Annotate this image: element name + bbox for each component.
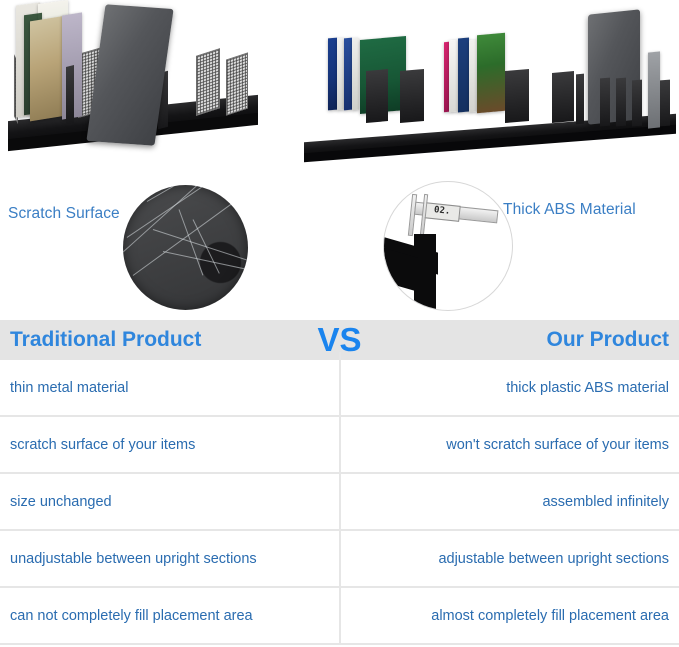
tablet xyxy=(648,51,660,128)
mesh-divider xyxy=(226,52,248,115)
abs-separator xyxy=(600,78,610,127)
scratched-surface-closeup-icon xyxy=(123,185,248,310)
book-cover xyxy=(477,33,505,113)
traditional-product-header: Traditional Product xyxy=(0,328,340,352)
vs-stem xyxy=(339,352,341,360)
thick-abs-material-label: Thick ABS Material xyxy=(503,201,636,219)
abs-separator xyxy=(660,80,670,127)
abs-separator xyxy=(632,80,642,127)
our-cell: adjustable between upright sections xyxy=(340,531,679,586)
traditional-product-photo xyxy=(0,0,290,172)
our-cell: thick plastic ABS material xyxy=(340,360,679,415)
abs-separator xyxy=(576,74,584,125)
traditional-cell: size unchanged xyxy=(0,474,340,529)
abs-separator xyxy=(400,69,424,123)
abs-separator xyxy=(616,78,626,127)
column-divider xyxy=(339,360,341,645)
caliper-jaw xyxy=(408,194,417,236)
traditional-cell: thin metal material xyxy=(0,360,340,415)
our-cell: won't scratch surface of your items xyxy=(340,417,679,472)
abs-separator xyxy=(505,69,529,123)
divider-panel xyxy=(66,65,74,125)
feature-callouts: Scratch Surface 02. Thick ABS Material xyxy=(0,175,679,320)
abs-separator xyxy=(552,71,574,123)
our-cell: almost completely fill placement area xyxy=(340,588,679,643)
abs-separator xyxy=(366,69,388,123)
caliper-measurement-icon: 02. xyxy=(383,181,513,311)
scratch-surface-label: Scratch Surface xyxy=(8,205,120,223)
comparison-body: thin metal material thick plastic ABS ma… xyxy=(0,360,679,645)
book-spine xyxy=(458,38,469,113)
binder xyxy=(344,38,352,111)
mesh-divider xyxy=(196,48,220,116)
our-cell: assembled infinitely xyxy=(340,474,679,529)
our-product-photo xyxy=(300,0,679,172)
book-spine xyxy=(449,40,458,113)
product-photos-area xyxy=(0,0,679,175)
caliper-display: 02. xyxy=(423,202,460,222)
book-spine xyxy=(469,40,477,113)
binder xyxy=(337,38,344,111)
our-product-header: Our Product xyxy=(340,328,679,352)
binder xyxy=(328,38,337,111)
traditional-cell: can not completely fill placement area xyxy=(0,588,340,643)
binder xyxy=(352,38,359,111)
traditional-cell: scratch surface of your items xyxy=(0,417,340,472)
comparison-table: Traditional Product Our Product VS thin … xyxy=(0,320,679,645)
traditional-cell: unadjustable between upright sections xyxy=(0,531,340,586)
